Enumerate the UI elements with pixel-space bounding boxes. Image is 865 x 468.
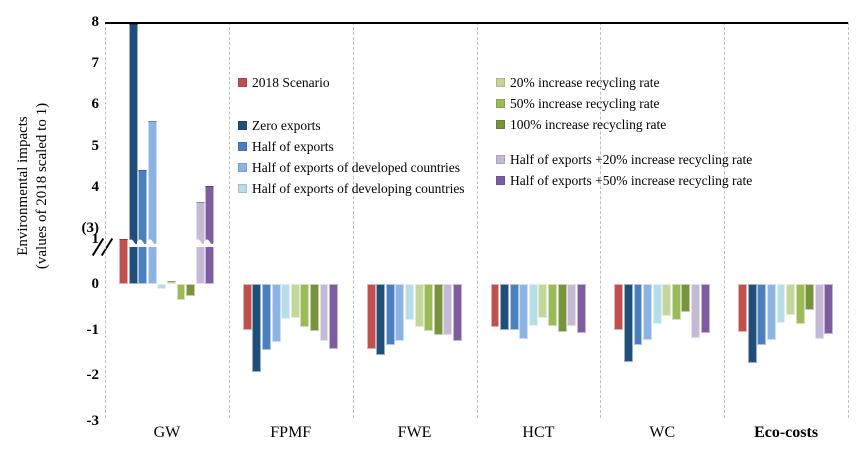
bar	[405, 284, 414, 320]
y-axis-title-line1: Environmental impacts	[14, 56, 33, 316]
bar	[491, 284, 500, 327]
bar	[767, 284, 776, 340]
bar	[519, 284, 528, 339]
bar	[272, 284, 281, 342]
bar	[291, 284, 300, 318]
legend-item: 2018 Scenario	[238, 72, 465, 93]
bar	[529, 284, 538, 326]
legend-column-left: 2018 ScenarioZero exportsHalf of exports…	[238, 72, 465, 199]
bar	[434, 284, 443, 335]
legend-label: Half of exports of developing countries	[252, 178, 465, 199]
legend-swatch-icon	[496, 78, 505, 87]
bar	[186, 284, 195, 296]
y-tick-6: 6	[65, 97, 99, 112]
legend-column-right: 20% increase recycling rate50% increase …	[496, 72, 752, 191]
legend-label: 50% increase recycling rate	[510, 93, 660, 114]
x-label-fpmf: FPMF	[229, 424, 353, 442]
bar	[167, 281, 176, 284]
bar	[500, 284, 509, 330]
legend-item: Half of exports +20% increase recycling …	[496, 149, 752, 170]
y-tick-0: 0	[65, 277, 99, 292]
legend-swatch-icon	[238, 121, 247, 130]
legend-label: 2018 Scenario	[252, 72, 330, 93]
x-label-hct: HCT	[477, 424, 601, 442]
bar	[329, 284, 338, 349]
gridline-separator	[229, 22, 230, 418]
bar-break-squiggle	[204, 234, 215, 243]
legend-label: Half of exports of developed countries	[252, 157, 460, 178]
gridline-separator	[105, 22, 106, 418]
x-label-gw: GW	[105, 424, 229, 442]
bar	[786, 284, 795, 315]
bar	[510, 284, 519, 330]
bar-break-squiggle	[147, 234, 158, 243]
bar	[624, 284, 633, 362]
legend-swatch-icon	[496, 155, 505, 164]
bar	[262, 284, 271, 350]
bar	[395, 284, 404, 341]
x-label-wc: WC	[600, 424, 724, 442]
bar	[415, 284, 424, 327]
bar	[824, 284, 833, 334]
legend-item: Half of exports of developed countries	[238, 157, 465, 178]
y-tick-8: 8	[65, 15, 99, 30]
bar	[757, 284, 766, 345]
bar	[815, 284, 824, 339]
bar	[538, 284, 547, 318]
legend-label: 100% increase recycling rate	[510, 114, 666, 135]
bar	[310, 284, 319, 331]
bar	[177, 284, 186, 300]
y-tick--3: -3	[65, 414, 99, 429]
legend-label: Half of exports	[252, 136, 334, 157]
bar	[796, 284, 805, 324]
legend-item: Half of exports	[238, 136, 465, 157]
bar	[424, 284, 433, 331]
bar	[691, 284, 700, 338]
bar	[777, 284, 786, 323]
bar	[701, 284, 710, 333]
legend-item: 50% increase recycling rate	[496, 93, 752, 114]
legend-label: Half of exports +50% increase recycling …	[510, 170, 752, 191]
gridline-separator	[848, 22, 849, 418]
legend-item: Half of exports of developing countries	[238, 178, 465, 199]
gridline-separator	[477, 22, 478, 418]
legend-swatch-icon	[238, 142, 247, 151]
bar	[653, 284, 662, 324]
legend-swatch-icon	[238, 184, 247, 193]
bar	[738, 284, 747, 332]
legend-item: Zero exports	[238, 115, 465, 136]
bar	[567, 284, 576, 326]
y-tick--2: -2	[65, 368, 99, 383]
bar	[281, 284, 290, 319]
legend-swatch-icon	[238, 78, 247, 87]
legend-label: Half of exports +20% increase recycling …	[510, 149, 752, 170]
bar	[243, 284, 252, 330]
y-axis-title-line2: (values of 2018 scaled to 1)	[33, 56, 52, 316]
bar	[681, 284, 690, 312]
legend-swatch-icon	[496, 120, 505, 129]
bar	[634, 284, 643, 345]
y-tick-4: 4	[65, 180, 99, 195]
bar	[376, 284, 385, 355]
bar	[320, 284, 329, 341]
bar	[643, 284, 652, 340]
bar	[453, 284, 462, 341]
legend-swatch-icon	[238, 163, 247, 172]
y-axis-title: Environmental impacts (values of 2018 sc…	[14, 56, 54, 316]
bar	[748, 284, 757, 363]
bar	[148, 121, 157, 284]
x-label-fwe: FWE	[353, 424, 477, 442]
y-tick--1: -1	[65, 323, 99, 338]
legend-label: 20% increase recycling rate	[510, 72, 660, 93]
bar	[443, 284, 452, 335]
bar	[386, 284, 395, 345]
bar	[252, 284, 261, 372]
legend-swatch-icon	[496, 99, 505, 108]
bar	[138, 170, 147, 284]
bar	[577, 284, 586, 333]
bar	[672, 284, 681, 320]
bar	[300, 284, 309, 327]
legend-label: Zero exports	[252, 115, 321, 136]
y-tick-5: 5	[65, 139, 99, 154]
bar	[157, 284, 166, 289]
legend-swatch-icon	[496, 176, 505, 185]
legend-item: Half of exports +50% increase recycling …	[496, 170, 752, 191]
zero-baseline	[105, 22, 848, 24]
x-label-eco-costs: Eco-costs	[724, 424, 848, 442]
chart-figure: Environmental impacts (values of 2018 sc…	[0, 0, 865, 468]
bar	[548, 284, 557, 326]
bar	[558, 284, 567, 332]
bar	[662, 284, 671, 316]
bar	[614, 284, 623, 330]
bar	[805, 284, 814, 310]
bar	[367, 284, 376, 349]
y-tick-7: 7	[65, 56, 99, 71]
legend-item: 100% increase recycling rate	[496, 114, 752, 135]
legend-item: 20% increase recycling rate	[496, 72, 752, 93]
